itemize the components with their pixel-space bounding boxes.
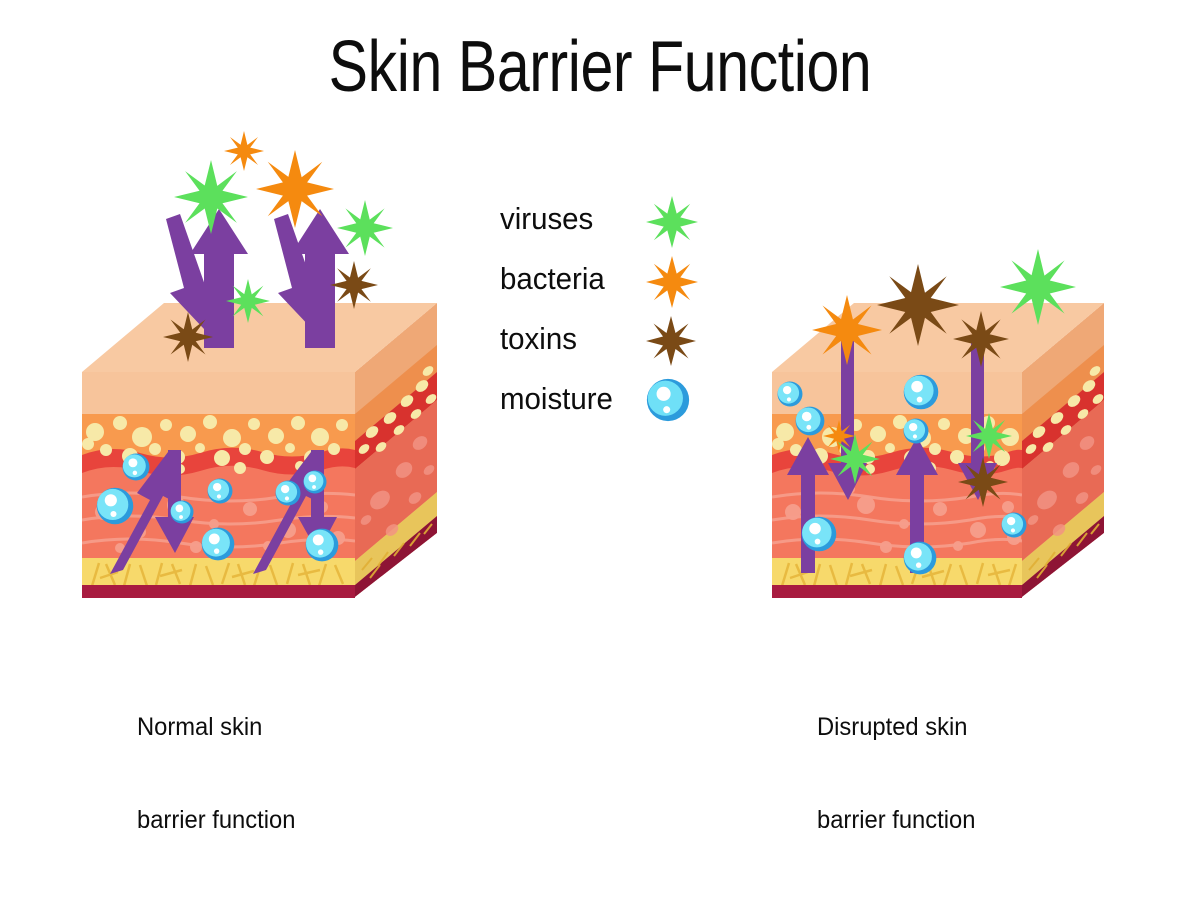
virus-star-3 bbox=[226, 279, 270, 323]
bacteria-star-small bbox=[224, 131, 264, 171]
virus-star-2 bbox=[337, 200, 393, 256]
toxin-star-2 bbox=[330, 261, 378, 309]
virus-star-inside-1 bbox=[830, 434, 880, 484]
toxin-star-1 bbox=[163, 312, 213, 362]
disrupted-base-slab bbox=[772, 585, 1022, 598]
diagram-canvas: Skin Barrier Function viruses bacteria t… bbox=[0, 0, 1200, 766]
panel-normal-skin bbox=[82, 131, 438, 600]
caption-disrupted-line1: Disrupted skin bbox=[817, 712, 975, 743]
normal-base-slab bbox=[82, 585, 355, 598]
caption-normal-line1: Normal skin bbox=[137, 712, 295, 743]
caption-normal-skin: Normal skin barrier function bbox=[137, 650, 295, 898]
toxin-star-inside bbox=[958, 457, 1008, 507]
caption-disrupted-skin: Disrupted skin barrier function bbox=[817, 650, 975, 898]
caption-normal-line2: barrier function bbox=[137, 805, 295, 836]
panel-disrupted-skin bbox=[772, 249, 1105, 600]
caption-disrupted-line2: barrier function bbox=[817, 805, 975, 836]
bacteria-star-top bbox=[812, 295, 882, 365]
virus-star bbox=[174, 160, 248, 234]
